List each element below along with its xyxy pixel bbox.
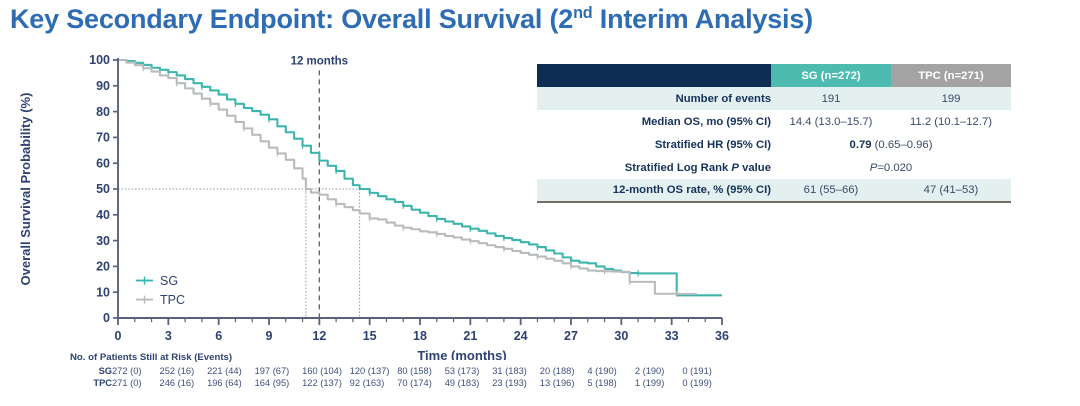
y-tick-label: 90 xyxy=(96,79,110,93)
at-risk-cell: 0 (199) xyxy=(682,378,730,390)
y-tick-label: 70 xyxy=(96,131,110,145)
at-risk-cell: 246 (16) xyxy=(160,378,208,390)
y-tick-label: 60 xyxy=(96,156,110,170)
row-12-month-sg: 61 (55–66) xyxy=(771,179,891,202)
table-row-median-os: Median OS, mo (95% CI) 14.4 (13.0–15.7) … xyxy=(537,110,1011,133)
os-summary-table: SG (n=272) TPC (n=271) Number of events … xyxy=(537,64,1011,203)
y-tick-label: 20 xyxy=(96,260,110,274)
x-tick-label: 18 xyxy=(413,329,427,343)
at-risk-cell: 1 (199) xyxy=(635,378,683,390)
hr-point-estimate: 0.79 xyxy=(850,139,872,151)
at-risk-cell: 221 (44) xyxy=(207,366,255,378)
row-label-log-rank: Stratified Log Rank P value xyxy=(537,156,771,179)
y-tick-label: 40 xyxy=(96,208,110,222)
at-risk-cell: 197 (67) xyxy=(255,366,303,378)
row-median-os-tpc: 11.2 (10.1–12.7) xyxy=(891,110,1011,133)
row-hazard-ratio-value: 0.79 (0.65–0.96) xyxy=(771,133,1011,156)
y-tick-label: 10 xyxy=(96,285,110,299)
log-rank-label-italic: P xyxy=(731,162,739,174)
y-tick-label: 100 xyxy=(89,53,110,67)
x-tick-label: 30 xyxy=(614,329,628,343)
hr-confidence-interval: (0.65–0.96) xyxy=(872,139,933,151)
y-tick-label: 80 xyxy=(96,105,110,119)
twelve-month-annotation-label: 12 months xyxy=(291,55,349,67)
table-row-12-month-rate: 12-month OS rate, % (95% CI) 61 (55–66) … xyxy=(537,179,1011,202)
row-log-rank-value: P=0.020 xyxy=(771,156,1011,179)
row-12-month-tpc: 47 (41–53) xyxy=(891,179,1011,202)
x-tick-label: 0 xyxy=(115,329,122,343)
at-risk-cell: 160 (104) xyxy=(302,366,350,378)
y-tick-label: 30 xyxy=(96,234,110,248)
y-axis-title: Overall Survival Probability (%) xyxy=(18,93,33,286)
at-risk-block: No. of Patients Still at Risk (Events) S… xyxy=(70,352,770,390)
x-tick-label: 9 xyxy=(266,329,273,343)
at-risk-cell: 272 (0) xyxy=(112,366,160,378)
x-tick-label: 3 xyxy=(165,329,172,343)
y-tick-label: 50 xyxy=(96,182,110,196)
at-risk-cell: 122 (137) xyxy=(302,378,350,390)
table-row-log-rank: Stratified Log Rank P value P=0.020 xyxy=(537,156,1011,179)
at-risk-cell: 2 (190) xyxy=(635,366,683,378)
header-corner-cell xyxy=(537,64,771,87)
p-value-number: =0.020 xyxy=(877,162,912,174)
y-tick-label: 0 xyxy=(103,311,110,325)
page-title: Key Secondary Endpoint: Overall Survival… xyxy=(10,4,1070,35)
at-risk-cell: 31 (183) xyxy=(492,366,540,378)
header-sg: SG (n=272) xyxy=(771,64,891,87)
log-rank-label-a: Stratified Log Rank xyxy=(625,162,732,174)
x-tick-label: 27 xyxy=(564,329,578,343)
at-risk-arm-label: SG xyxy=(70,366,112,378)
at-risk-arm-label: TPC xyxy=(70,378,112,390)
at-risk-cell: 53 (173) xyxy=(445,366,493,378)
row-label-events: Number of events xyxy=(537,87,771,110)
row-label-median-os: Median OS, mo (95% CI) xyxy=(537,110,771,133)
page-title-superscript: nd xyxy=(573,4,592,22)
at-risk-cell: 0 (191) xyxy=(682,366,730,378)
table-row-hazard-ratio: Stratified HR (95% CI) 0.79 (0.65–0.96) xyxy=(537,133,1011,156)
x-tick-label: 15 xyxy=(363,329,377,343)
row-label-12-month-rate: 12-month OS rate, % (95% CI) xyxy=(537,179,771,202)
header-tpc: TPC (n=271) xyxy=(891,64,1011,87)
at-risk-table: SG272 (0)252 (16)221 (44)197 (67)160 (10… xyxy=(70,366,730,390)
at-risk-cell: 196 (64) xyxy=(207,378,255,390)
at-risk-cell: 271 (0) xyxy=(112,378,160,390)
page-title-suffix: Interim Analysis) xyxy=(592,4,812,34)
row-label-hazard-ratio: Stratified HR (95% CI) xyxy=(537,133,771,156)
at-risk-cell: 49 (183) xyxy=(445,378,493,390)
x-tick-label: 12 xyxy=(312,329,326,343)
at-risk-cell: 20 (188) xyxy=(540,366,588,378)
at-risk-cell: 5 (198) xyxy=(587,378,635,390)
table-header-row: SG (n=272) TPC (n=271) xyxy=(537,64,1011,87)
at-risk-cell: 4 (190) xyxy=(587,366,635,378)
x-tick-label: 24 xyxy=(514,329,528,343)
legend-label-tpc: TPC xyxy=(160,293,185,307)
at-risk-row: TPC271 (0)246 (16)196 (64)164 (95)122 (1… xyxy=(70,378,730,390)
at-risk-cell: 164 (95) xyxy=(255,378,303,390)
row-median-os-sg: 14.4 (13.0–15.7) xyxy=(771,110,891,133)
at-risk-cell: 252 (16) xyxy=(160,366,208,378)
at-risk-cell: 70 (174) xyxy=(397,378,445,390)
log-rank-label-b: value xyxy=(739,162,771,174)
row-events-sg: 191 xyxy=(771,87,891,110)
at-risk-cell: 80 (158) xyxy=(397,366,445,378)
page-title-prefix: Key Secondary Endpoint: Overall Survival… xyxy=(10,4,573,34)
x-tick-label: 6 xyxy=(215,329,222,343)
at-risk-cell: 13 (196) xyxy=(540,378,588,390)
table-row-events: Number of events 191 199 xyxy=(537,87,1011,110)
x-tick-label: 33 xyxy=(665,329,679,343)
x-tick-label: 36 xyxy=(715,329,729,343)
at-risk-row: SG272 (0)252 (16)221 (44)197 (67)160 (10… xyxy=(70,366,730,378)
at-risk-cell: 92 (163) xyxy=(350,378,398,390)
at-risk-caption: No. of Patients Still at Risk (Events) xyxy=(70,352,770,363)
at-risk-cell: 23 (193) xyxy=(492,378,540,390)
row-events-tpc: 199 xyxy=(891,87,1011,110)
legend-label-sg: SG xyxy=(160,274,178,288)
x-tick-label: 21 xyxy=(463,329,477,343)
at-risk-cell: 120 (137) xyxy=(350,366,398,378)
